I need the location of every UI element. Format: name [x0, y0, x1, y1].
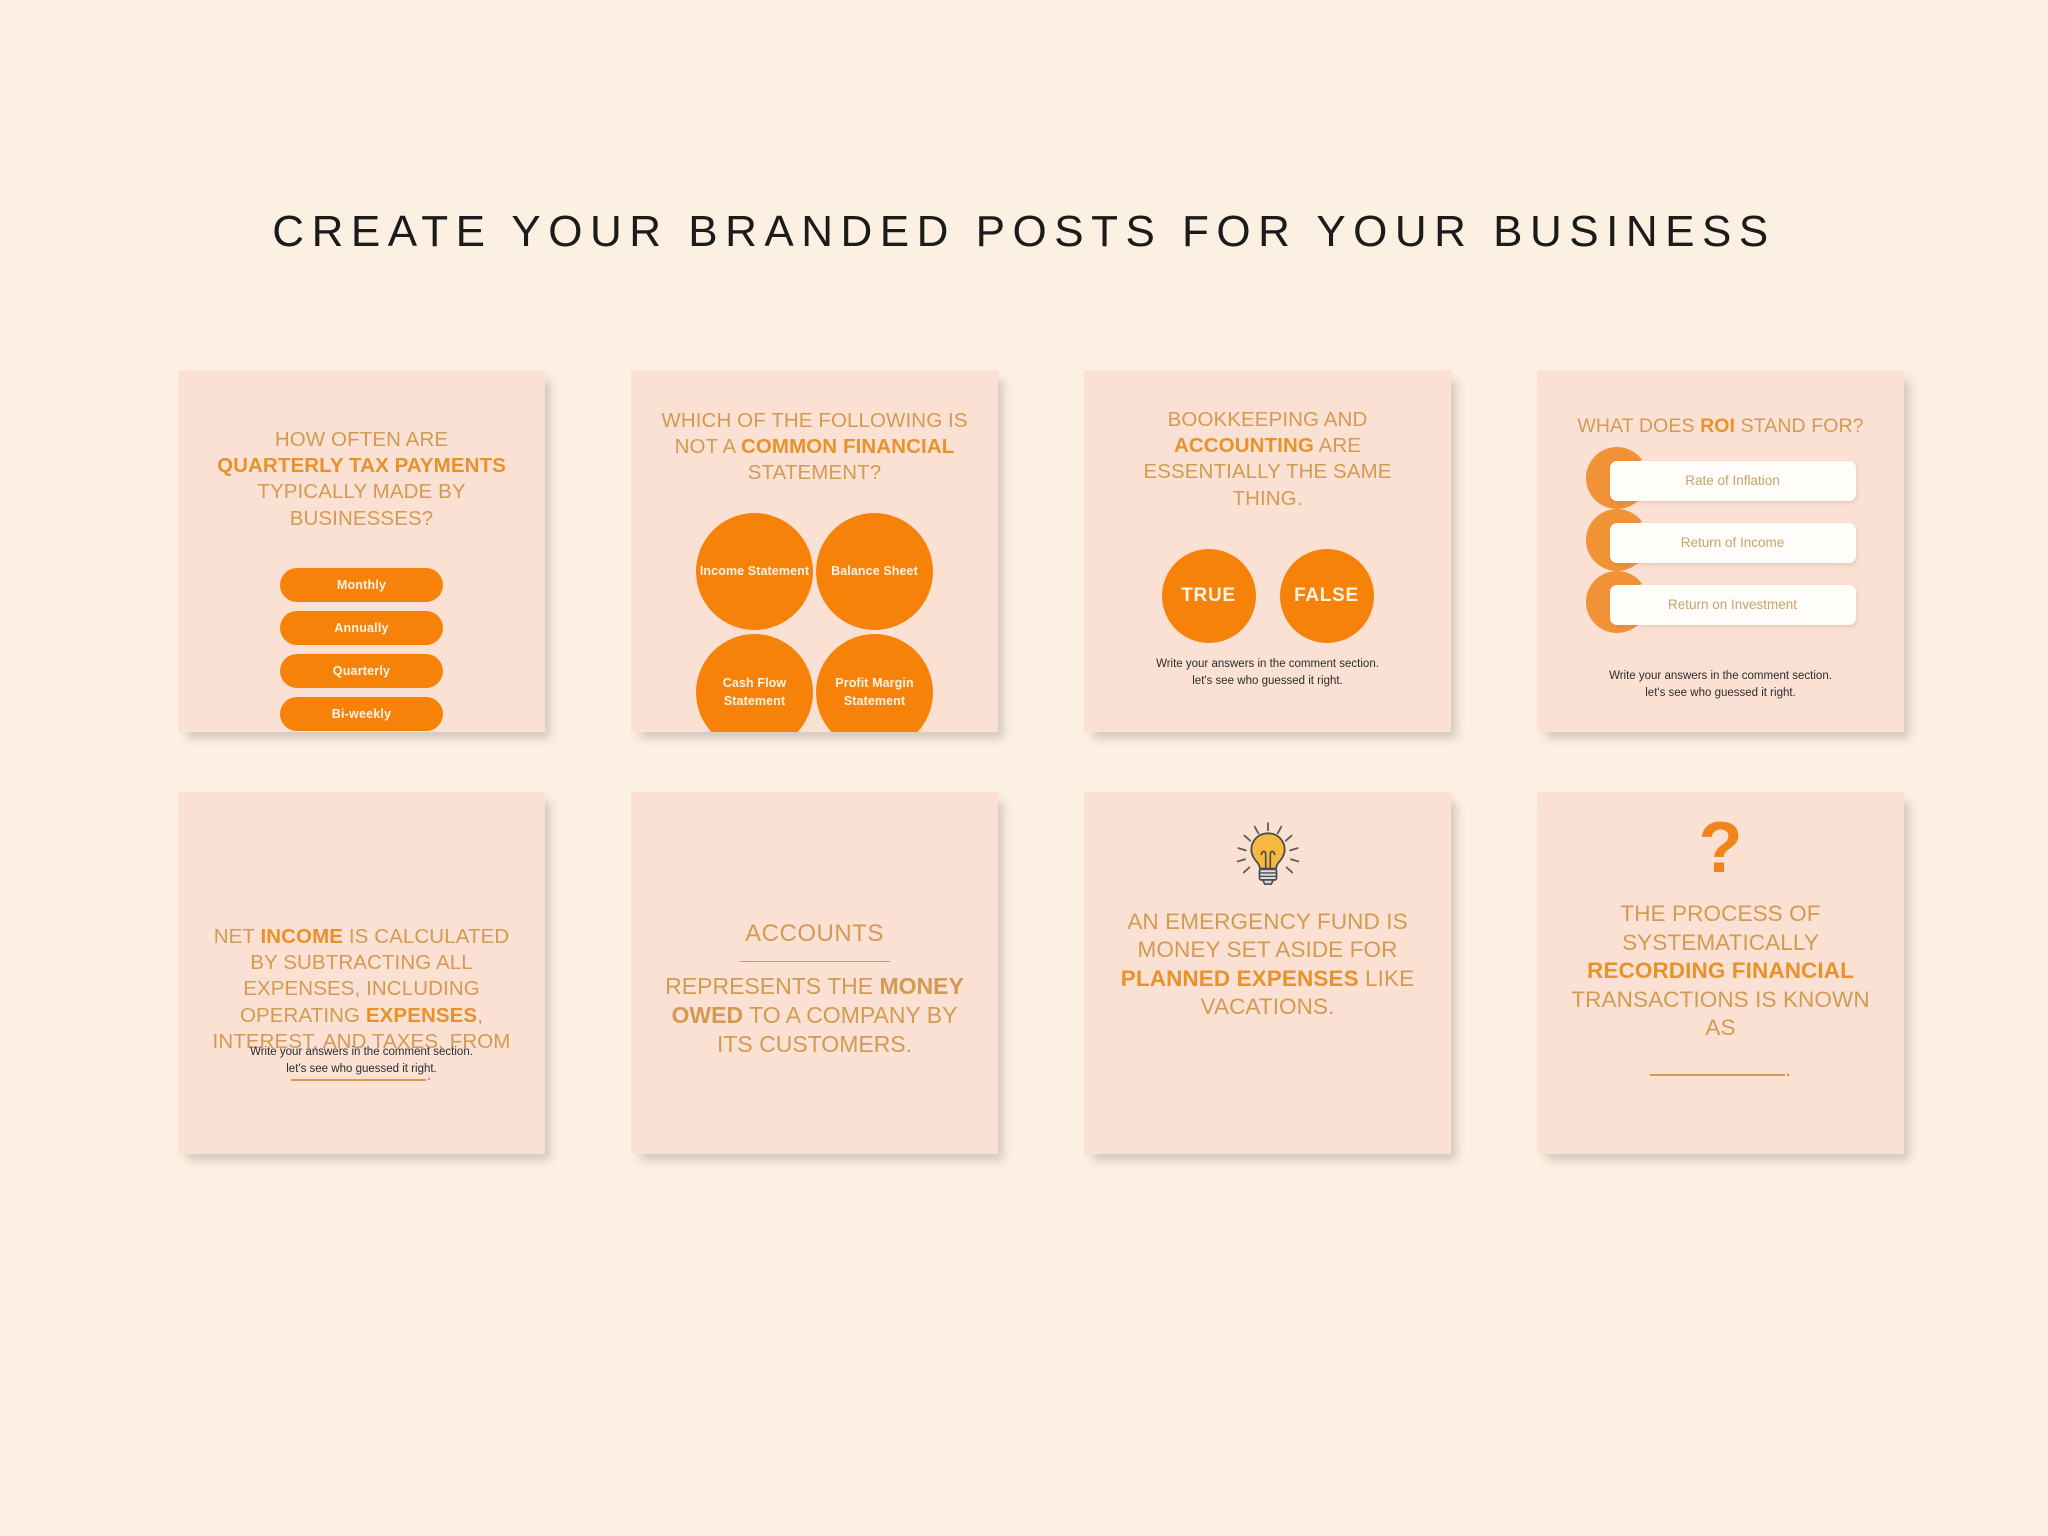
page-title: CREATE YOUR BRANDED POSTS FOR YOUR BUSIN… — [0, 207, 2048, 257]
card3-note: Write your answers in the comment sectio… — [1084, 656, 1451, 691]
blank-suffix: . — [1785, 1056, 1791, 1081]
note-line-1: Write your answers in the comment sectio… — [1084, 656, 1451, 673]
post-card-quarterly-tax-payments[interactable]: HOW OFTEN ARE QUARTERLY TAX PAYMENTS TYP… — [178, 370, 545, 732]
card1-question: HOW OFTEN ARE QUARTERLY TAX PAYMENTS TYP… — [217, 427, 507, 532]
card3-question: BOOKKEEPING AND ACCOUNTING ARE ESSENTIAL… — [1133, 407, 1403, 512]
question-mark-icon: ? — [1699, 812, 1743, 884]
note-line-2: let's see who guessed it right. — [178, 1061, 545, 1078]
option-pill-annually[interactable]: Annually — [280, 611, 443, 645]
c8-part2: RECORDING FINANCIAL — [1587, 958, 1854, 983]
c8-part3: TRANSACTIONS IS KNOWN AS — [1571, 987, 1869, 1041]
post-card-common-financial-statement[interactable]: WHICH OF THE FOLLOWING IS NOT A COMMON F… — [631, 370, 998, 732]
option-pill-bi-weekly[interactable]: Bi-weekly — [280, 697, 443, 731]
c6-part1: REPRESENTS THE — [665, 973, 879, 999]
option-label-return-of-income[interactable]: Return of Income — [1610, 523, 1856, 563]
card5-note: Write your answers in the comment sectio… — [178, 1044, 545, 1079]
q1-part1: HOW OFTEN ARE — [275, 428, 448, 451]
card6-content: ACCOUNTS REPRESENTS THE MONEY OWED TO A … — [665, 920, 965, 1058]
post-card-bookkeeping-true-false[interactable]: BOOKKEEPING AND ACCOUNTING ARE ESSENTIAL… — [1084, 370, 1451, 732]
q3-part2: ACCOUNTING — [1174, 434, 1314, 457]
lightbulb-icon — [1231, 820, 1305, 894]
card3-option-list: TRUE FALSE — [1162, 549, 1374, 643]
card8-blank-row: . — [1566, 1055, 1876, 1084]
card2-option-list: Income Statement Balance Sheet Cash Flow… — [696, 513, 933, 732]
note-line-2: let's see who guessed it right. — [1537, 685, 1904, 702]
card4-question: WHAT DOES ROI STAND FOR? — [1561, 414, 1881, 439]
note-line-1: Write your answers in the comment sectio… — [178, 1044, 545, 1061]
card-grid: HOW OFTEN ARE QUARTERLY TAX PAYMENTS TYP… — [178, 370, 1903, 1154]
q4-part1: WHAT DOES — [1577, 415, 1700, 437]
option-circle-profit-margin-statement[interactable]: Profit Margin Statement — [816, 634, 933, 732]
option-label-rate-of-inflation[interactable]: Rate of Inflation — [1610, 461, 1856, 501]
option-circle-cash-flow-statement[interactable]: Cash Flow Statement — [696, 634, 813, 732]
q3-part1: BOOKKEEPING AND — [1168, 408, 1368, 431]
option-label-return-on-investment[interactable]: Return on Investment — [1610, 585, 1856, 625]
option-circle-balance-sheet[interactable]: Balance Sheet — [816, 513, 933, 630]
page-root: CREATE YOUR BRANDED POSTS FOR YOUR BUSIN… — [0, 0, 2048, 1536]
option-circle-income-statement[interactable]: Income Statement — [696, 513, 813, 630]
card6-divider — [740, 961, 890, 962]
card6-title: ACCOUNTS — [665, 920, 965, 948]
option-row-return-on-investment[interactable]: Return on Investment — [1586, 585, 1856, 625]
q4-part3: STAND FOR? — [1735, 415, 1864, 437]
option-circle-false[interactable]: FALSE — [1280, 549, 1374, 643]
q5-part4: EXPENSES — [366, 1004, 477, 1027]
c7-part1: AN EMERGENCY FUND IS MONEY SET ASIDE FOR — [1127, 909, 1407, 962]
card6-body: REPRESENTS THE MONEY OWED TO A COMPANY B… — [665, 972, 965, 1058]
option-pill-monthly[interactable]: Monthly — [280, 568, 443, 602]
answer-blank-line — [1650, 1064, 1785, 1076]
card7-body: AN EMERGENCY FUND IS MONEY SET ASIDE FOR… — [1118, 908, 1418, 1021]
note-line-1: Write your answers in the comment sectio… — [1537, 668, 1904, 685]
card1-option-list: Monthly Annually Quarterly Bi-weekly — [280, 568, 443, 731]
q4-part2: ROI — [1700, 415, 1735, 437]
c6-part3: TO A COMPANY BY ITS CUSTOMERS. — [717, 1002, 958, 1057]
c8-part1: THE PROCESS OF SYSTEMATICALLY — [1620, 901, 1820, 955]
q1-part3: TYPICALLY MADE BY BUSINESSES? — [257, 480, 465, 529]
q2-part2: COMMON FINANCIAL — [741, 435, 954, 458]
option-row-rate-of-inflation[interactable]: Rate of Inflation — [1586, 461, 1856, 501]
card8-body: THE PROCESS OF SYSTEMATICALLY RECORDING … — [1566, 900, 1876, 1083]
post-card-emergency-fund[interactable]: AN EMERGENCY FUND IS MONEY SET ASIDE FOR… — [1084, 792, 1451, 1154]
post-card-net-income-fill-blank[interactable]: NET INCOME IS CALCULATED BY SUBTRACTING … — [178, 792, 545, 1154]
c7-part2: PLANNED EXPENSES — [1121, 966, 1359, 991]
post-card-roi-stand-for[interactable]: WHAT DOES ROI STAND FOR? Rate of Inflati… — [1537, 370, 1904, 732]
option-circle-true[interactable]: TRUE — [1162, 549, 1256, 643]
q1-part2: QUARTERLY TAX PAYMENTS — [217, 454, 506, 477]
post-card-accounts-receivable[interactable]: ACCOUNTS REPRESENTS THE MONEY OWED TO A … — [631, 792, 998, 1154]
q5-part2: INCOME — [260, 925, 343, 948]
option-pill-quarterly[interactable]: Quarterly — [280, 654, 443, 688]
card4-option-list: Rate of Inflation Return of Income Retur… — [1537, 461, 1904, 625]
q5-part1: NET — [214, 925, 261, 948]
card2-question: WHICH OF THE FOLLOWING IS NOT A COMMON F… — [660, 408, 970, 487]
note-line-2: let's see who guessed it right. — [1084, 673, 1451, 690]
post-card-recording-transactions[interactable]: ? THE PROCESS OF SYSTEMATICALLY RECORDIN… — [1537, 792, 1904, 1154]
option-row-return-of-income[interactable]: Return of Income — [1586, 523, 1856, 563]
q2-part3: STATEMENT? — [748, 461, 882, 484]
card4-note: Write your answers in the comment sectio… — [1537, 668, 1904, 703]
